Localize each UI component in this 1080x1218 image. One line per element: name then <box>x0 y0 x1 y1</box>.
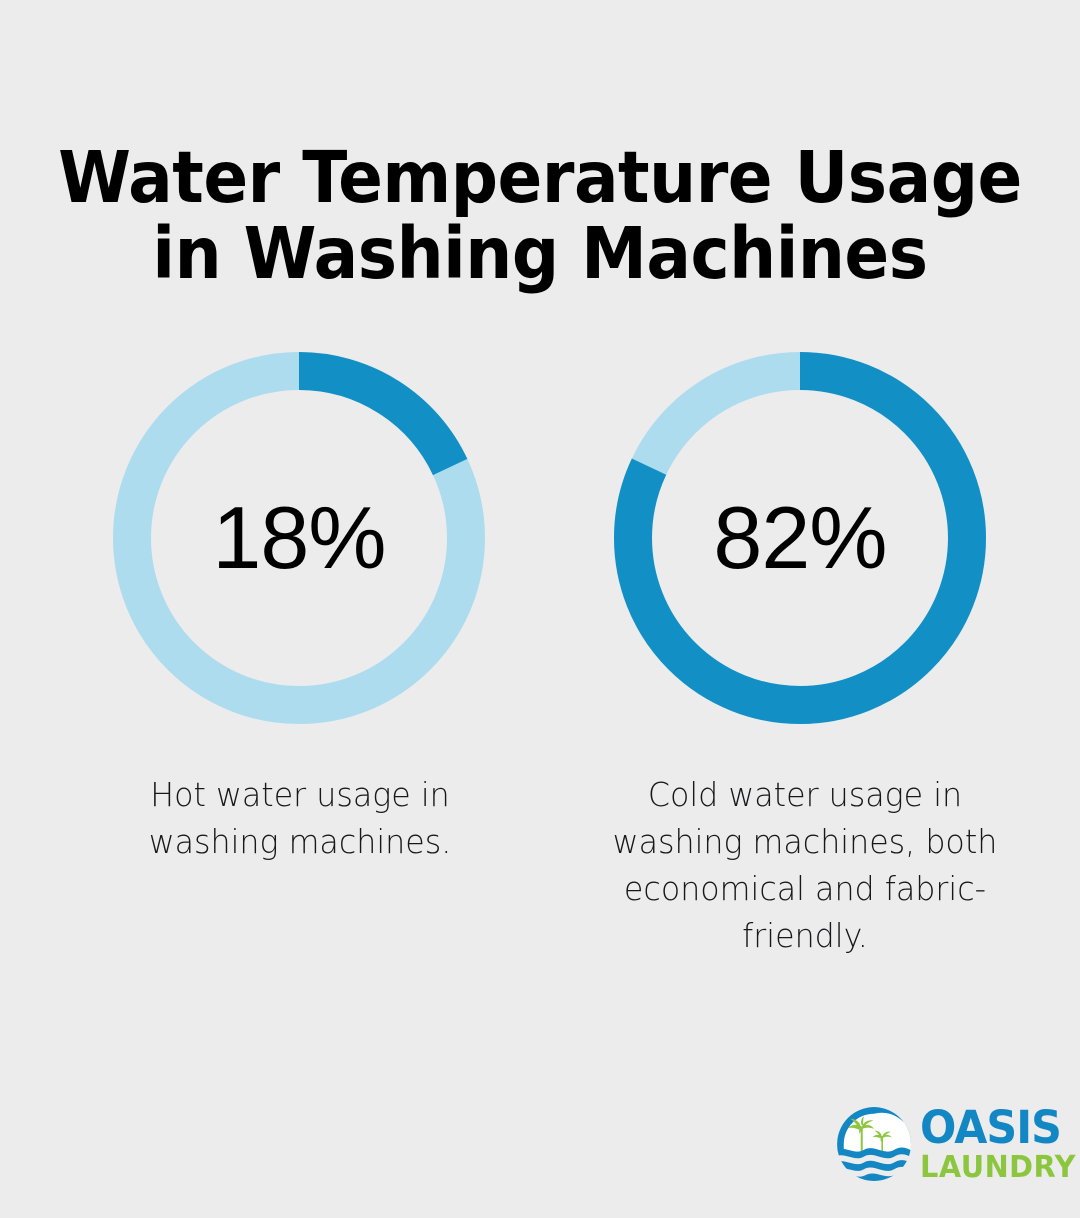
donut-charts-row: 18% 82% <box>0 352 1080 732</box>
brand-logo-text: OASIS LAUNDRY <box>920 1105 1080 1183</box>
page-title: Water Temperature Usage in Washing Machi… <box>38 140 1042 293</box>
page-title-line-1: Water Temperature Usage <box>38 140 1042 217</box>
captions-row: Hot water usage in washing machines. Col… <box>0 772 1080 1002</box>
brand-name-primary: OASIS <box>920 1105 1074 1150</box>
donut-cold-water-svg <box>614 352 986 724</box>
chart-cold-water: 82% <box>614 352 986 724</box>
caption-hot-water: Hot water usage in washing machines. <box>94 772 507 866</box>
chart-hot-water: 18% <box>113 352 485 724</box>
donut-hot-water-svg <box>113 352 485 724</box>
caption-cold-water: Cold water usage in washing machines, bo… <box>579 772 1030 959</box>
brand-logo: OASIS LAUNDRY <box>832 1098 1046 1190</box>
badge-top-fill <box>837 1107 911 1154</box>
donut-hot-water: 18% <box>113 352 485 724</box>
palm-trees-waves-icon <box>832 1102 916 1186</box>
waves-icon <box>834 1148 915 1185</box>
page-title-line-2: in Washing Machines <box>38 216 1042 293</box>
brand-name-secondary: LAUNDRY <box>920 1153 1076 1183</box>
infographic-canvas: Water Temperature Usage in Washing Machi… <box>0 0 1080 1218</box>
donut-cold-water: 82% <box>614 352 986 724</box>
